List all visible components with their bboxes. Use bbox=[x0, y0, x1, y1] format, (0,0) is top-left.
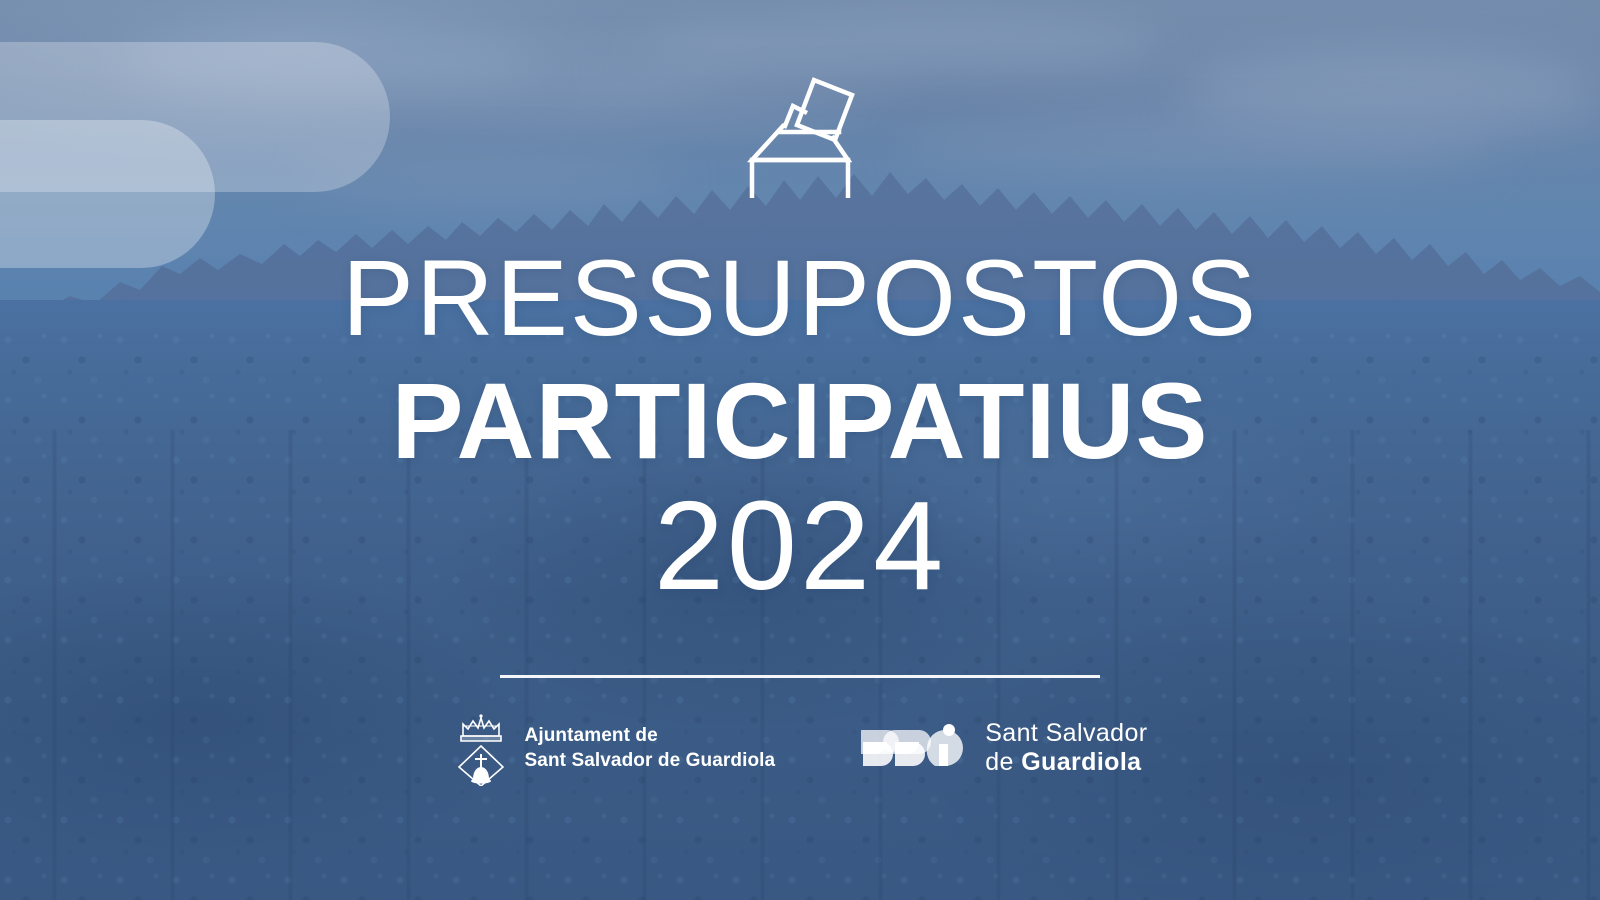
ajuntament-logo-text: Ajuntament de Sant Salvador de Guardiola bbox=[525, 723, 776, 773]
headline-year: 2024 bbox=[0, 483, 1600, 609]
poster-content: PRESSUPOSTOS PARTICIPATIUS 2024 bbox=[0, 0, 1600, 900]
ssg-line-2: de Guardiola bbox=[985, 748, 1147, 778]
poster-canvas: PRESSUPOSTOS PARTICIPATIUS 2024 bbox=[0, 0, 1600, 900]
ssg-logo-text: Sant Salvador de Guardiola bbox=[985, 719, 1147, 778]
ajuntament-line-1: Ajuntament de bbox=[525, 723, 776, 748]
divider-rule bbox=[500, 675, 1100, 678]
ssg-logo: Sant Salvador de Guardiola bbox=[861, 719, 1147, 778]
headline-block: PRESSUPOSTOS PARTICIPATIUS 2024 bbox=[0, 198, 1600, 609]
ssg-line-2-light: de bbox=[985, 748, 1021, 776]
logo-row: Ajuntament de Sant Salvador de Guardiola bbox=[453, 710, 1148, 786]
ajuntament-line-2: Sant Salvador de Guardiola bbox=[525, 748, 776, 773]
ssg-line-2-bold: Guardiola bbox=[1021, 748, 1141, 776]
headline-line-2: PARTICIPATIUS bbox=[0, 364, 1600, 477]
ajuntament-logo: Ajuntament de Sant Salvador de Guardiola bbox=[453, 710, 776, 786]
ssg-line-1: Sant Salvador bbox=[985, 719, 1147, 749]
municipal-crest-icon bbox=[453, 710, 509, 786]
ballot-box-icon bbox=[739, 68, 861, 198]
ssg-monogram-icon bbox=[861, 722, 971, 774]
headline-line-1: PRESSUPOSTOS bbox=[0, 244, 1600, 352]
